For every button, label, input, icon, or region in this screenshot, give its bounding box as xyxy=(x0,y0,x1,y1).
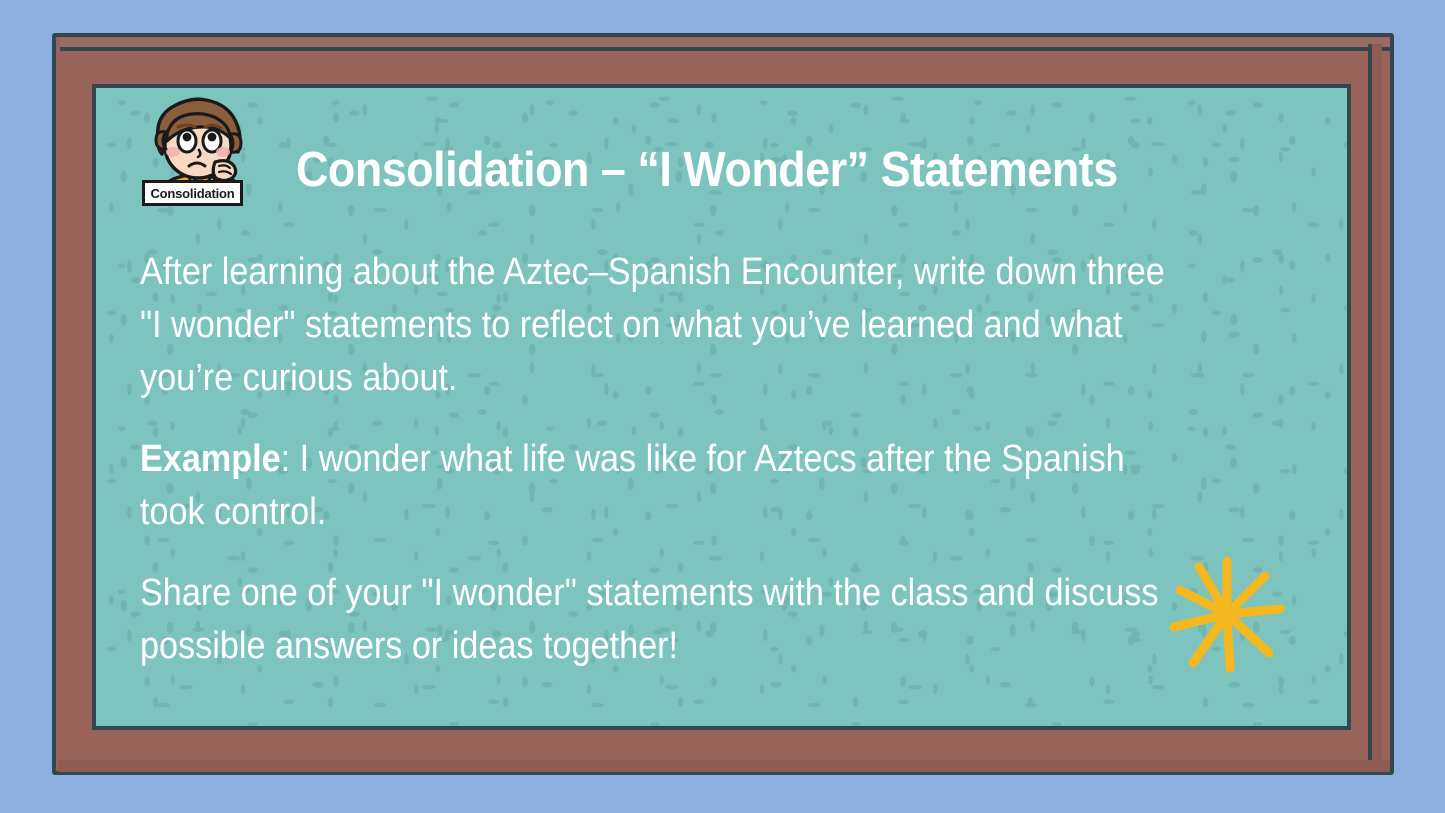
example-label: Example xyxy=(140,438,281,480)
example-text: : I wonder what life was like for Aztecs… xyxy=(140,438,1125,533)
starburst-icon xyxy=(1166,553,1288,675)
example-paragraph: Example: I wonder what life was like for… xyxy=(140,433,1184,539)
mascot-badge-label: Consolidation xyxy=(142,180,243,206)
instruction-paragraph: After learning about the Aztec–Spanish E… xyxy=(140,246,1184,405)
share-paragraph: Share one of your "I wonder" statements … xyxy=(140,567,1184,673)
frame-bevel-bottom xyxy=(58,760,1390,772)
page-title: Consolidation – “I Wonder” Statements xyxy=(296,146,1118,195)
board-body-text: After learning about the Aztec–Spanish E… xyxy=(140,246,1184,673)
frame-bevel-top xyxy=(60,38,1390,51)
slide-root: Consolidation Consolidation – “I Wonder”… xyxy=(0,0,1445,813)
frame-bevel-right xyxy=(1368,44,1382,770)
